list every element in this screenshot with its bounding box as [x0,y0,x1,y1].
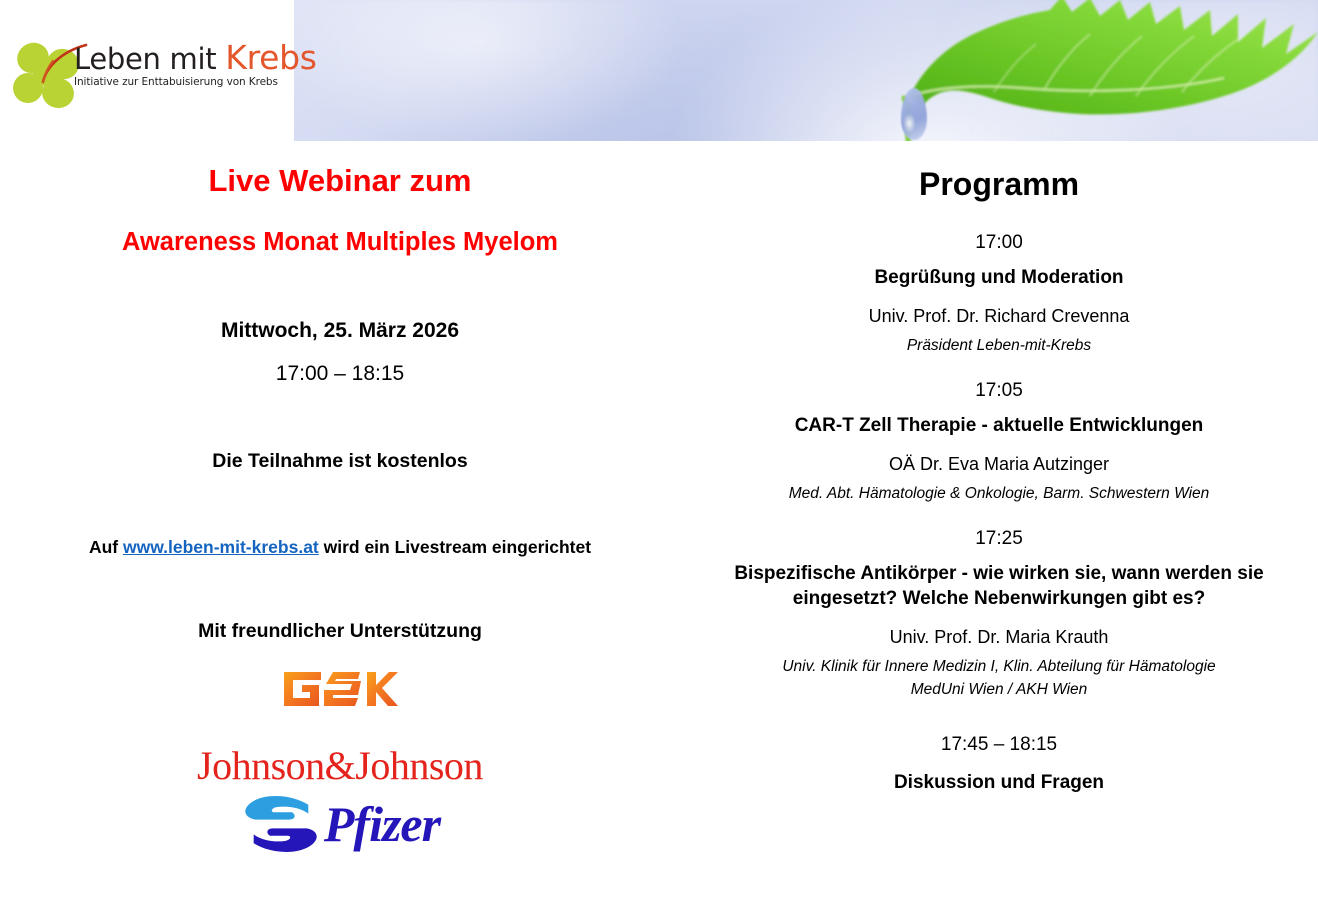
program-slot: 17:45 – 18:15 Diskussion und Fragen [680,734,1318,795]
right-column: Programm 17:00 Begrüßung und Moderation … [680,142,1318,921]
livestream-note-suffix: wird ein Livestream eingerichtet [319,537,591,557]
program-slot-speaker: Univ. Prof. Dr. Maria Krauth [680,626,1318,648]
johnson-and-johnson-logo: Johnson&Johnson [0,745,680,787]
webinar-title-line1: Live Webinar zum [0,164,680,198]
program-slot-speaker: Univ. Prof. Dr. Richard Crevenna [680,305,1318,327]
program-slot-affiliation: Präsident Leben-mit-Krebs [680,335,1318,356]
program-slot-time: 17:25 [680,528,1318,550]
pfizer-wordmark: Pfizer [324,798,440,850]
logo-wordmark: Leben mit Krebs [74,42,290,75]
program-slot-affiliation: Med. Abt. Hämatologie & Onkologie, Barm.… [680,483,1318,504]
program-slot-topic: Diskussion und Fragen [680,770,1318,795]
program-slot-affiliation: MedUni Wien / AKH Wien [680,679,1318,700]
program-slot-affiliation: Univ. Klinik für Innere Medizin I, Klin.… [680,656,1318,677]
logo-text: Leben mit Krebs Initiative zur Enttabuis… [74,42,290,88]
logo: Leben mit Krebs Initiative zur Enttabuis… [6,32,290,122]
pfizer-mark-icon [240,793,322,855]
sponsor-logos: Johnson&Johnson Pfizer [0,669,680,855]
program-slot-time: 17:05 [680,380,1318,402]
program-slot-topic: Begrüßung und Moderation [680,265,1318,290]
header-band: Leben mit Krebs Initiative zur Enttabuis… [0,0,1318,142]
livestream-url-link[interactable]: www.leben-mit-krebs.at [123,537,319,557]
livestream-note: Auf www.leben-mit-krebs.at wird ein Live… [0,536,680,558]
event-time: 17:00 – 18:15 [0,362,680,386]
program-slot-time: 17:45 – 18:15 [680,734,1318,756]
livestream-note-prefix: Auf [89,537,123,557]
program-slot-topic: CAR-T Zell Therapie - aktuelle Entwicklu… [680,413,1318,438]
logo-wordmark-part2: Krebs [225,38,316,77]
program-slot: 17:25 Bispezifische Antikörper - wie wir… [680,528,1318,700]
support-note: Mit freundlicher Unterstützung [0,620,680,643]
program-slot-time: 17:00 [680,232,1318,254]
free-participation-note: Die Teilnahme ist kostenlos [0,450,680,473]
body-columns: Live Webinar zum Awareness Monat Multipl… [0,142,1318,921]
logo-tagline: Initiative zur Enttabuisierung von Krebs [74,76,290,88]
left-column: Live Webinar zum Awareness Monat Multipl… [0,142,680,921]
gsk-logo-icon [282,669,398,709]
program-slot: 17:05 CAR-T Zell Therapie - aktuelle Ent… [680,380,1318,504]
program-slot-topic: Bispezifische Antikörper - wie wirken si… [680,561,1318,611]
program-slot-speaker: OÄ Dr. Eva Maria Autzinger [680,453,1318,475]
program-slot: 17:00 Begrüßung und Moderation Univ. Pro… [680,232,1318,356]
event-date: Mittwoch, 25. März 2026 [0,319,680,343]
leaf-icon [894,0,1318,141]
programm-title: Programm [680,166,1318,202]
pfizer-logo: Pfizer [0,793,680,855]
webinar-title-line2: Awareness Monat Multiples Myelom [0,227,680,257]
logo-wordmark-part1: Leben mit [74,42,216,76]
header-photo [294,0,1318,141]
